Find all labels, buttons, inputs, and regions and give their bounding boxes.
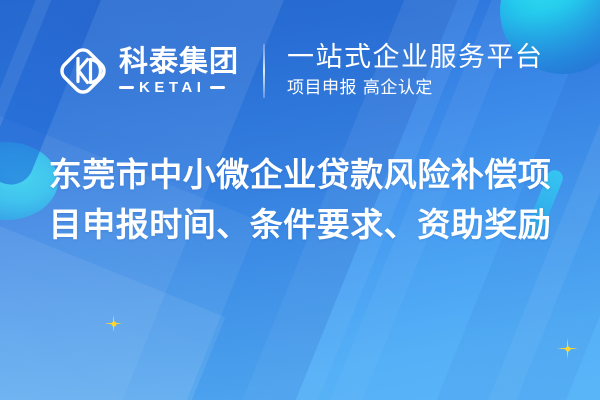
page-title-line-1: 东莞市中小微企业贷款风险补偿项 bbox=[0, 150, 600, 200]
brand-wordmark: 科泰集团 KETAI bbox=[119, 46, 239, 96]
sparkle-star-left bbox=[105, 315, 122, 332]
page-title-line-2: 目申报时间、条件要求、资助奖励 bbox=[0, 200, 600, 250]
header-vertical-divider bbox=[263, 44, 265, 98]
wordmark-rule-left bbox=[119, 86, 134, 89]
sparkle-star-right bbox=[557, 338, 578, 359]
brand-name-en-row: KETAI bbox=[119, 79, 239, 96]
ketai-diamond-kd-logo-icon bbox=[56, 44, 110, 98]
wordmark-rule-right bbox=[210, 86, 225, 89]
promo-banner: 科泰集团 KETAI 一站式企业服务平台 项目申报 高企认定 东莞市中小微企业贷… bbox=[0, 0, 600, 400]
slogan-secondary: 项目申报 高企认定 bbox=[287, 77, 544, 99]
slogan-block: 一站式企业服务平台 项目申报 高企认定 bbox=[287, 43, 544, 99]
page-title: 东莞市中小微企业贷款风险补偿项 目申报时间、条件要求、资助奖励 bbox=[0, 150, 600, 250]
brand-name-cn: 科泰集团 bbox=[119, 46, 239, 76]
brand-name-en: KETAI bbox=[139, 79, 205, 96]
brand-logo: 科泰集团 KETAI bbox=[56, 44, 239, 98]
banner-header: 科泰集团 KETAI 一站式企业服务平台 项目申报 高企认定 bbox=[0, 30, 600, 112]
slogan-primary: 一站式企业服务平台 bbox=[287, 43, 544, 73]
